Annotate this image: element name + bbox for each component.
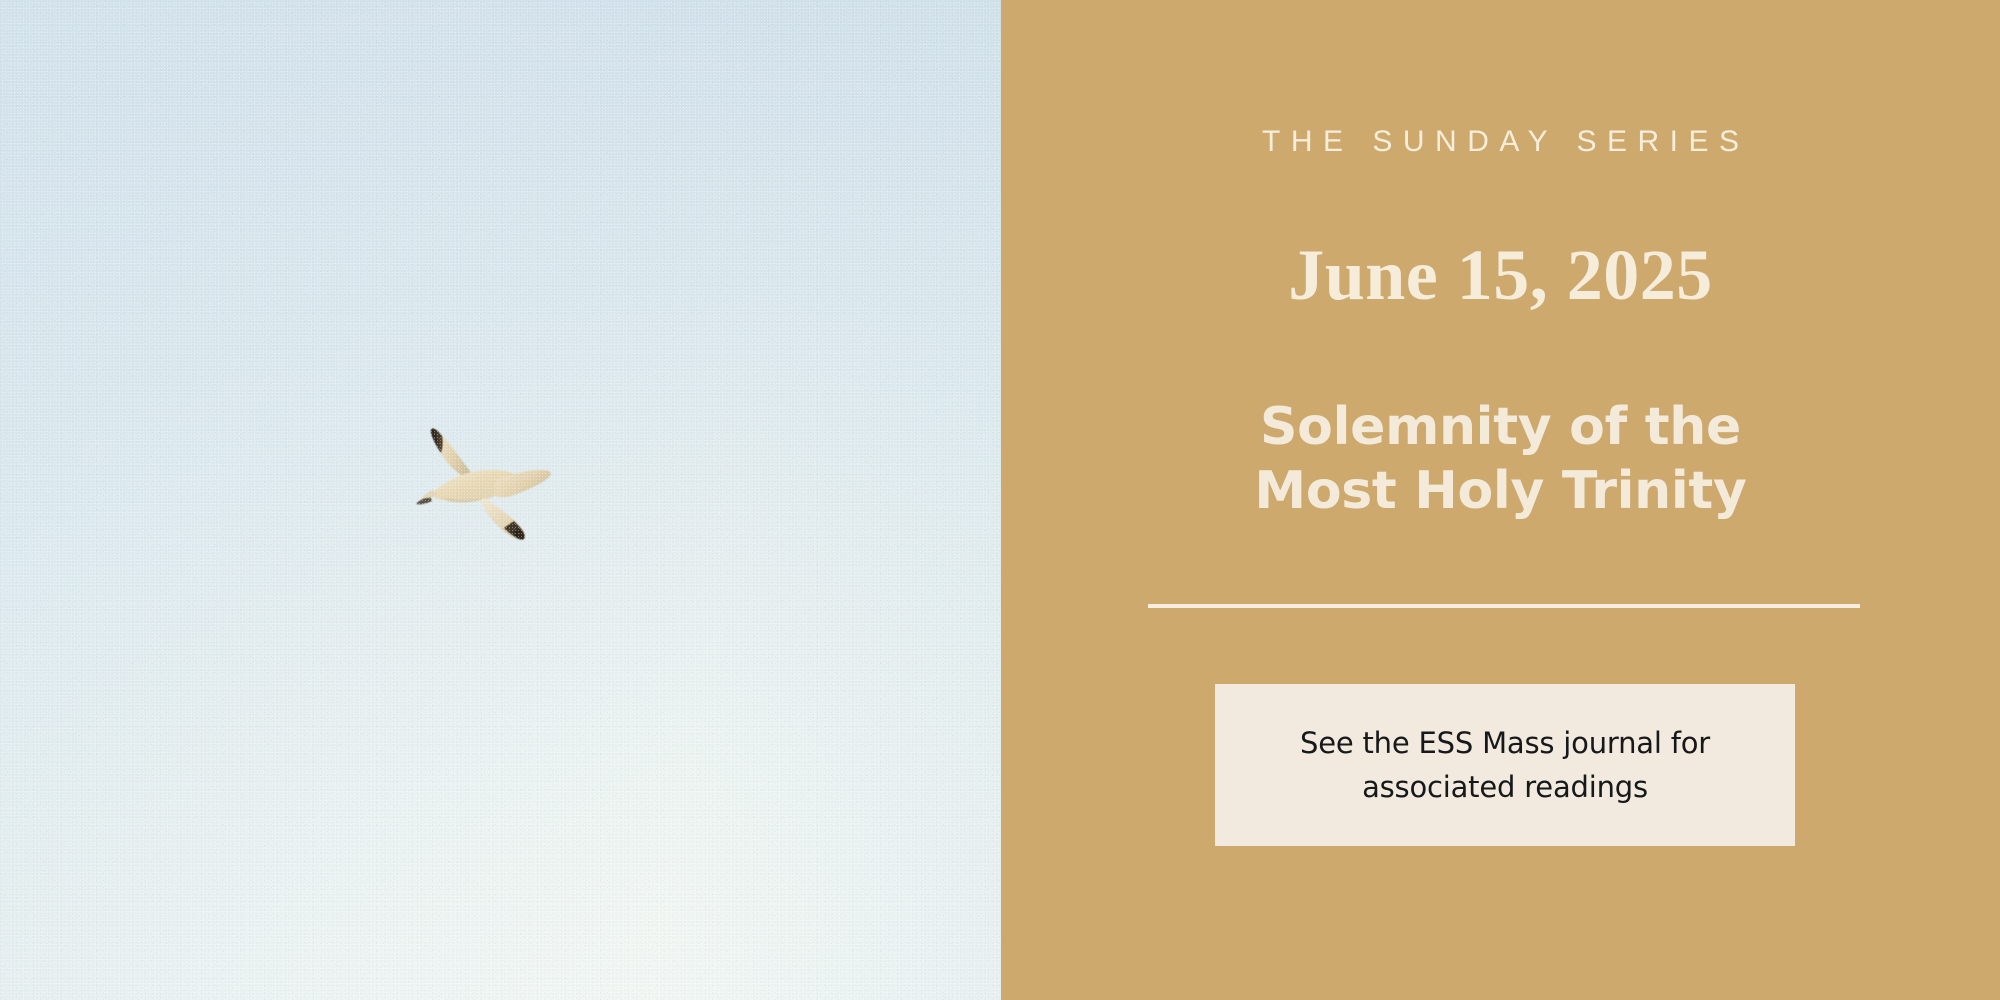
note-box-text: See the ESS Mass journal for associated … <box>1300 721 1710 809</box>
feast-headline-line-1: Solemnity of the <box>1001 395 2000 459</box>
sky-photo-panel <box>0 0 1001 1000</box>
note-box-line-2: associated readings <box>1300 765 1710 809</box>
date-heading: June 15, 2025 <box>1001 239 2000 311</box>
series-eyebrow: THE SUNDAY SERIES <box>1001 127 2000 157</box>
poster-canvas: THE SUNDAY SERIES June 15, 2025 Solemnit… <box>0 0 2000 1000</box>
note-box: See the ESS Mass journal for associated … <box>1215 684 1795 846</box>
note-box-line-1: See the ESS Mass journal for <box>1300 721 1710 765</box>
gold-text-panel: THE SUNDAY SERIES June 15, 2025 Solemnit… <box>1001 0 2000 1000</box>
horizontal-divider <box>1148 604 1860 608</box>
feast-headline-line-2: Most Holy Trinity <box>1001 459 2000 523</box>
seagull-icon <box>400 400 570 560</box>
feast-headline: Solemnity of the Most Holy Trinity <box>1001 395 2000 523</box>
